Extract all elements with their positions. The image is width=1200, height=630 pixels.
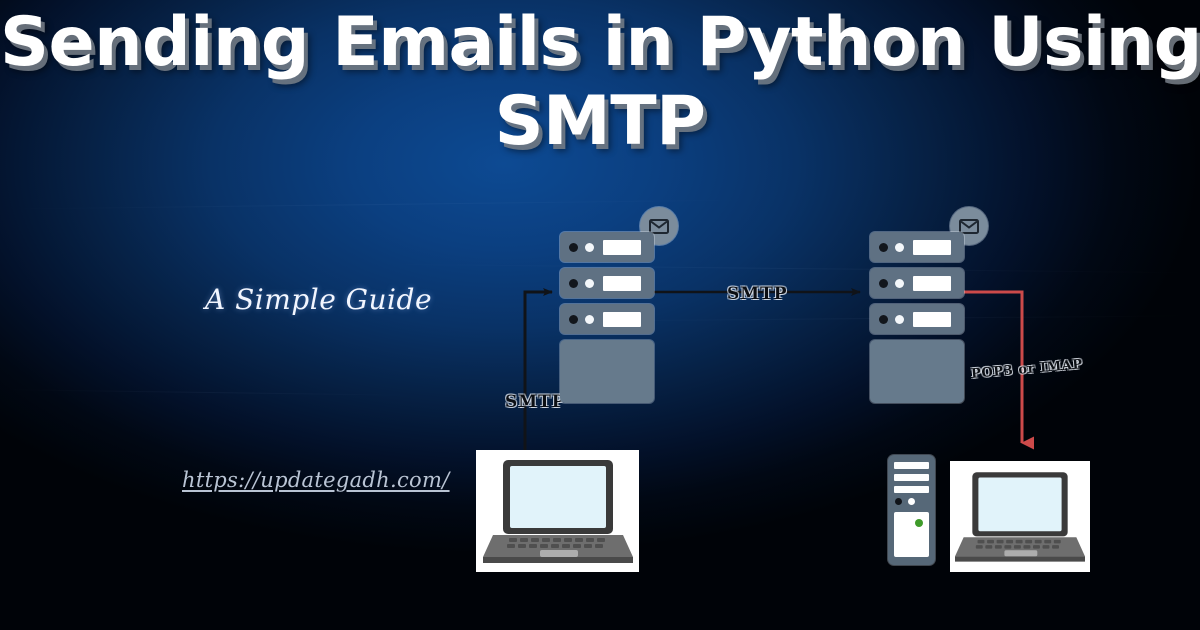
rack-drive-slot — [913, 276, 951, 291]
rack-drive-slot — [913, 312, 951, 327]
server-rack-unit — [560, 232, 654, 262]
recipient-laptop[interactable] — [950, 461, 1090, 572]
rack-power-indicator — [879, 315, 888, 324]
recipient-desktop-tower[interactable] — [888, 455, 935, 565]
receiving-mail-server[interactable] — [870, 232, 964, 403]
envelope-glyph — [649, 219, 669, 234]
rack-power-indicator — [569, 315, 578, 324]
tower-drive-panel — [894, 512, 929, 557]
rack-status-indicator — [585, 243, 594, 252]
tower-status-indicator — [908, 498, 915, 505]
rack-drive-slot — [913, 240, 951, 255]
server-rack-unit — [560, 304, 654, 334]
rack-power-indicator — [879, 243, 888, 252]
poster-canvas: Sending Emails in Python Using SMTP A Si… — [0, 0, 1200, 630]
connector-label-smtp-upload: SMTP — [505, 392, 566, 412]
server-rack-unit — [870, 304, 964, 334]
server-rack-unit — [870, 232, 964, 262]
tower-indicator-group — [895, 498, 929, 505]
laptop-icon — [955, 468, 1085, 565]
connector-sender-to-server — [525, 292, 552, 452]
server-rack-unit — [560, 268, 654, 298]
email-flow-diagram: SMTP SMTP POP3 or IMAP — [0, 0, 1200, 630]
tower-vent-bar — [894, 474, 929, 481]
rack-status-indicator — [895, 279, 904, 288]
connector-label-smtp-relay: SMTP — [727, 284, 788, 304]
rack-power-indicator — [569, 243, 578, 252]
sending-mail-server[interactable] — [560, 232, 654, 403]
tower-power-indicator — [895, 498, 902, 505]
server-rack-unit — [870, 268, 964, 298]
rack-status-indicator — [895, 243, 904, 252]
server-base-unit — [870, 340, 964, 403]
rack-status-indicator — [585, 315, 594, 324]
rack-status-indicator — [585, 279, 594, 288]
envelope-glyph — [959, 219, 979, 234]
server-base-unit — [560, 340, 654, 403]
rack-drive-slot — [603, 276, 641, 291]
rack-status-indicator — [895, 315, 904, 324]
tower-activity-led — [915, 519, 923, 527]
rack-power-indicator — [569, 279, 578, 288]
tower-vent-bar — [894, 486, 929, 493]
sender-laptop[interactable] — [476, 450, 639, 572]
laptop-icon — [483, 457, 633, 565]
rack-drive-slot — [603, 312, 641, 327]
rack-power-indicator — [879, 279, 888, 288]
rack-drive-slot — [603, 240, 641, 255]
tower-vent-bar — [894, 462, 929, 469]
